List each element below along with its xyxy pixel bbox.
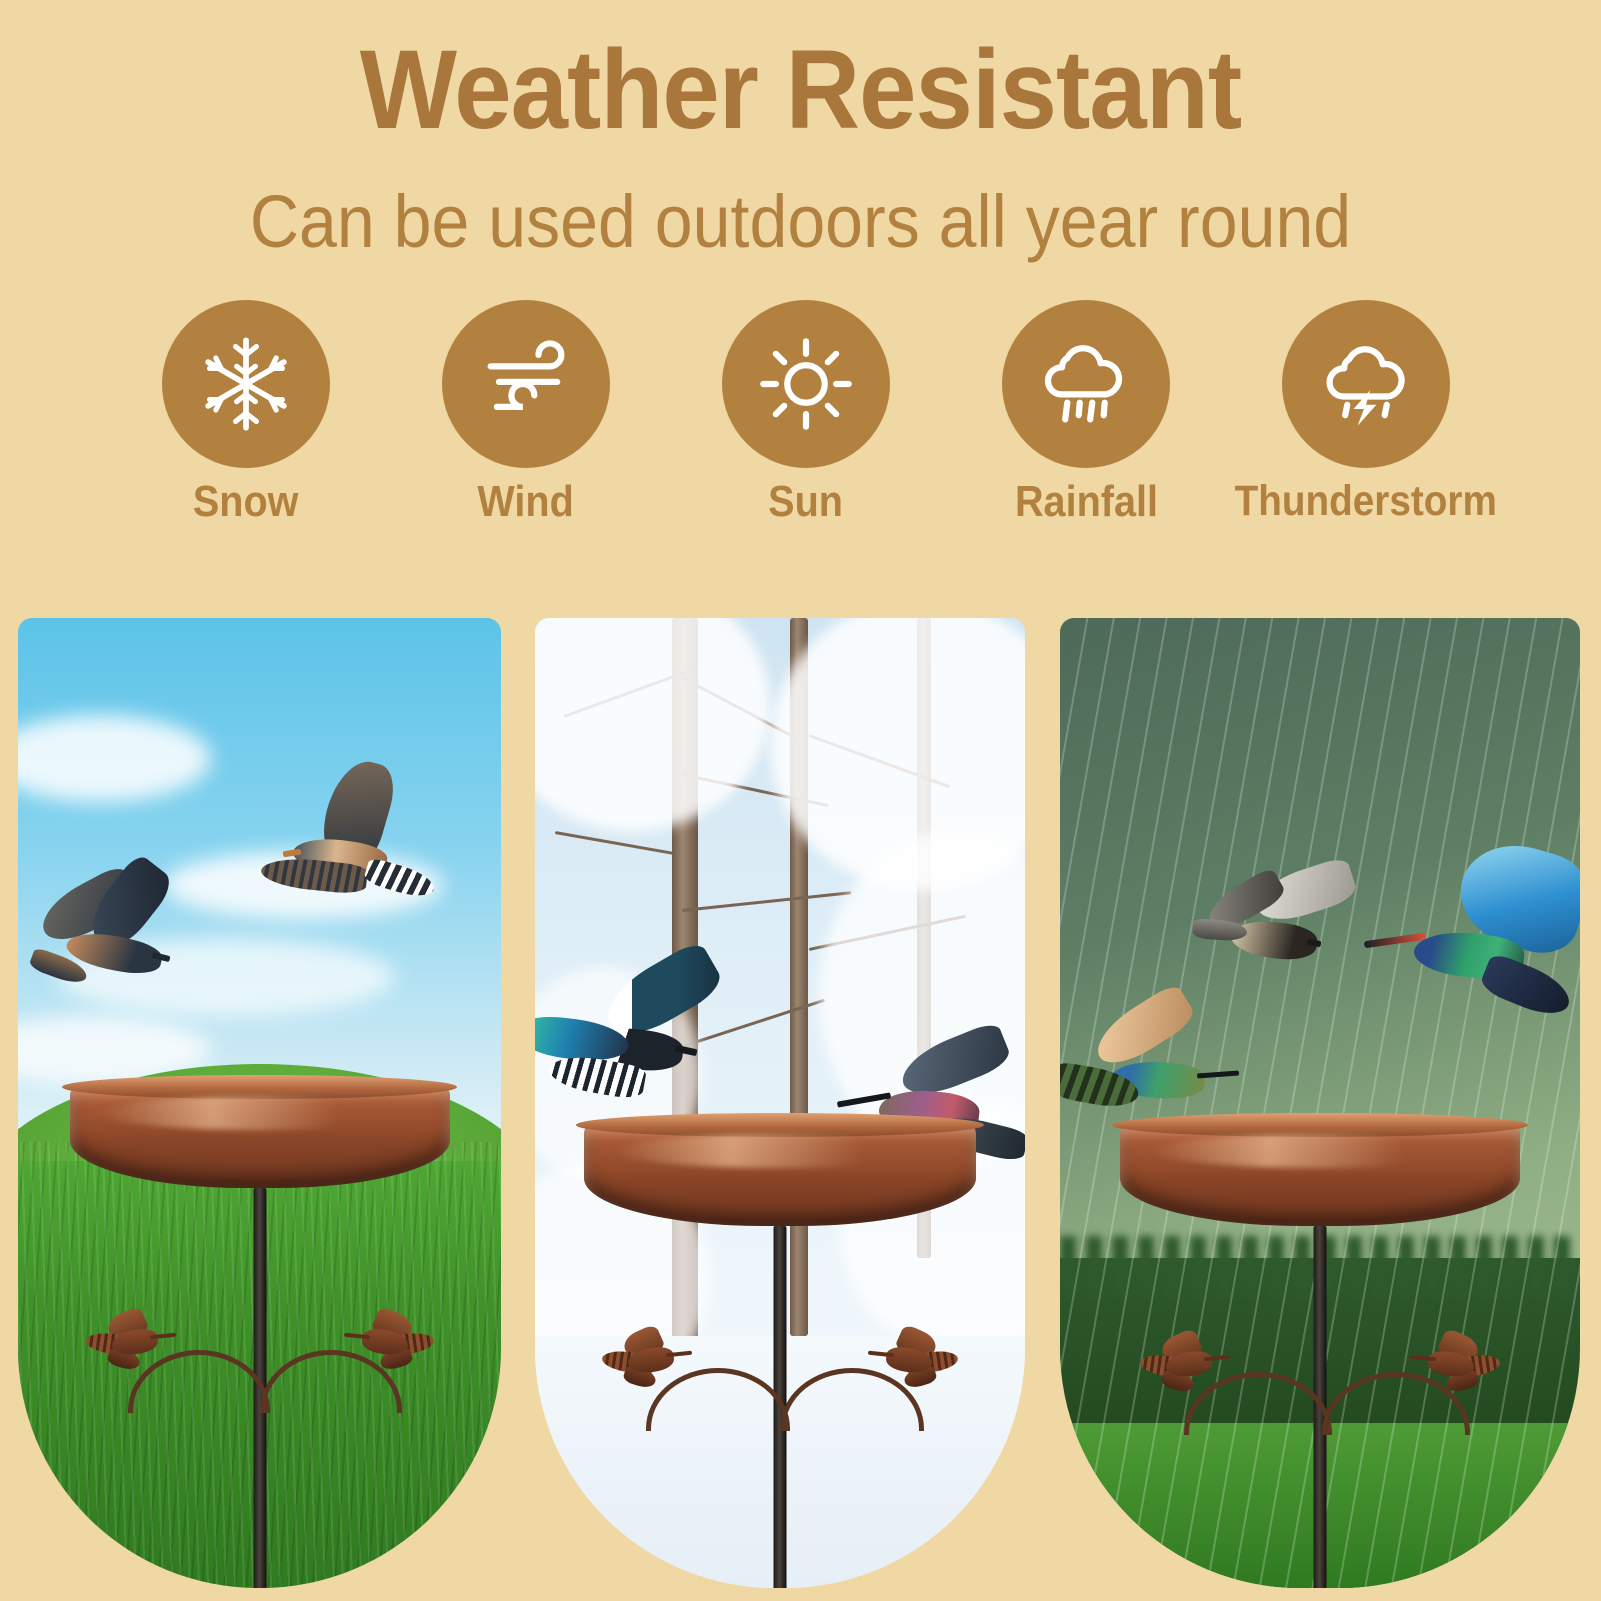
wind-badge-circle <box>442 300 610 468</box>
rainy-forest-panel <box>1060 618 1580 1588</box>
flying-bird <box>269 764 469 894</box>
bird-bath-product <box>1120 1122 1520 1588</box>
bird-bath-product <box>584 1122 976 1588</box>
flying-bird <box>28 880 208 990</box>
photo-panel-row <box>0 618 1601 1590</box>
snow-badge-circle <box>162 300 330 468</box>
weather-badge-label: Rainfall <box>1014 480 1157 524</box>
weather-badge-label: Snow <box>193 480 299 524</box>
hummingbird-ornament <box>86 1312 172 1374</box>
flying-bird <box>535 967 755 1117</box>
page-title: Weather Resistant <box>64 34 1537 146</box>
bird-bath-bowl <box>1120 1122 1520 1226</box>
weather-badge-wind: Wind <box>436 300 616 524</box>
weather-resistant-infographic: Weather Resistant Can be used outdoors a… <box>0 0 1601 1601</box>
sunny-meadow-panel <box>18 618 501 1588</box>
sun-icon <box>754 332 858 436</box>
rainfall-badge-circle <box>1002 300 1170 468</box>
bird-body <box>1229 916 1319 964</box>
snowflake-icon <box>194 332 298 436</box>
weather-badge-rainfall: Rainfall <box>996 300 1176 524</box>
hummingbird-ornament <box>602 1330 688 1392</box>
flying-bird <box>1362 851 1580 1021</box>
weather-badge-thunderstorm: Thunderstorm <box>1276 300 1456 523</box>
bird-bath-bowl <box>70 1084 450 1188</box>
hummingbird-ornament <box>1414 1334 1500 1396</box>
weather-badge-label: Thunderstorm <box>1235 480 1497 523</box>
bird-bath-product <box>70 1084 450 1588</box>
hummingbird-ornament <box>1140 1334 1226 1396</box>
ornament-beak <box>1410 1355 1436 1362</box>
thunderstorm-icon <box>1314 332 1418 436</box>
hummingbird-ornament <box>872 1330 958 1392</box>
bird-tail <box>1477 951 1575 1022</box>
flying-bird <box>1195 870 1365 980</box>
wind-icon <box>474 332 578 436</box>
ornament-beak <box>1204 1355 1230 1362</box>
bird-bath-bowl <box>584 1122 976 1226</box>
flying-bird <box>1060 1006 1245 1126</box>
ornament-beak <box>666 1351 692 1358</box>
page-subtitle: Can be used outdoors all year round <box>64 185 1537 259</box>
ornament-beak <box>868 1351 894 1358</box>
weather-badge-snow: Snow <box>156 300 336 524</box>
hummingbird-ornament <box>348 1312 434 1374</box>
weather-badge-label: Sun <box>769 480 844 524</box>
weather-badge-row: Snow Wind <box>156 300 1456 550</box>
rain-cloud-icon <box>1034 332 1138 436</box>
weather-badge-label: Wind <box>478 480 574 524</box>
sun-badge-circle <box>722 300 890 468</box>
snowy-forest-panel <box>535 618 1025 1588</box>
thunderstorm-badge-circle <box>1282 300 1450 468</box>
bird-beak <box>1197 1071 1239 1079</box>
weather-badge-sun: Sun <box>716 300 896 524</box>
